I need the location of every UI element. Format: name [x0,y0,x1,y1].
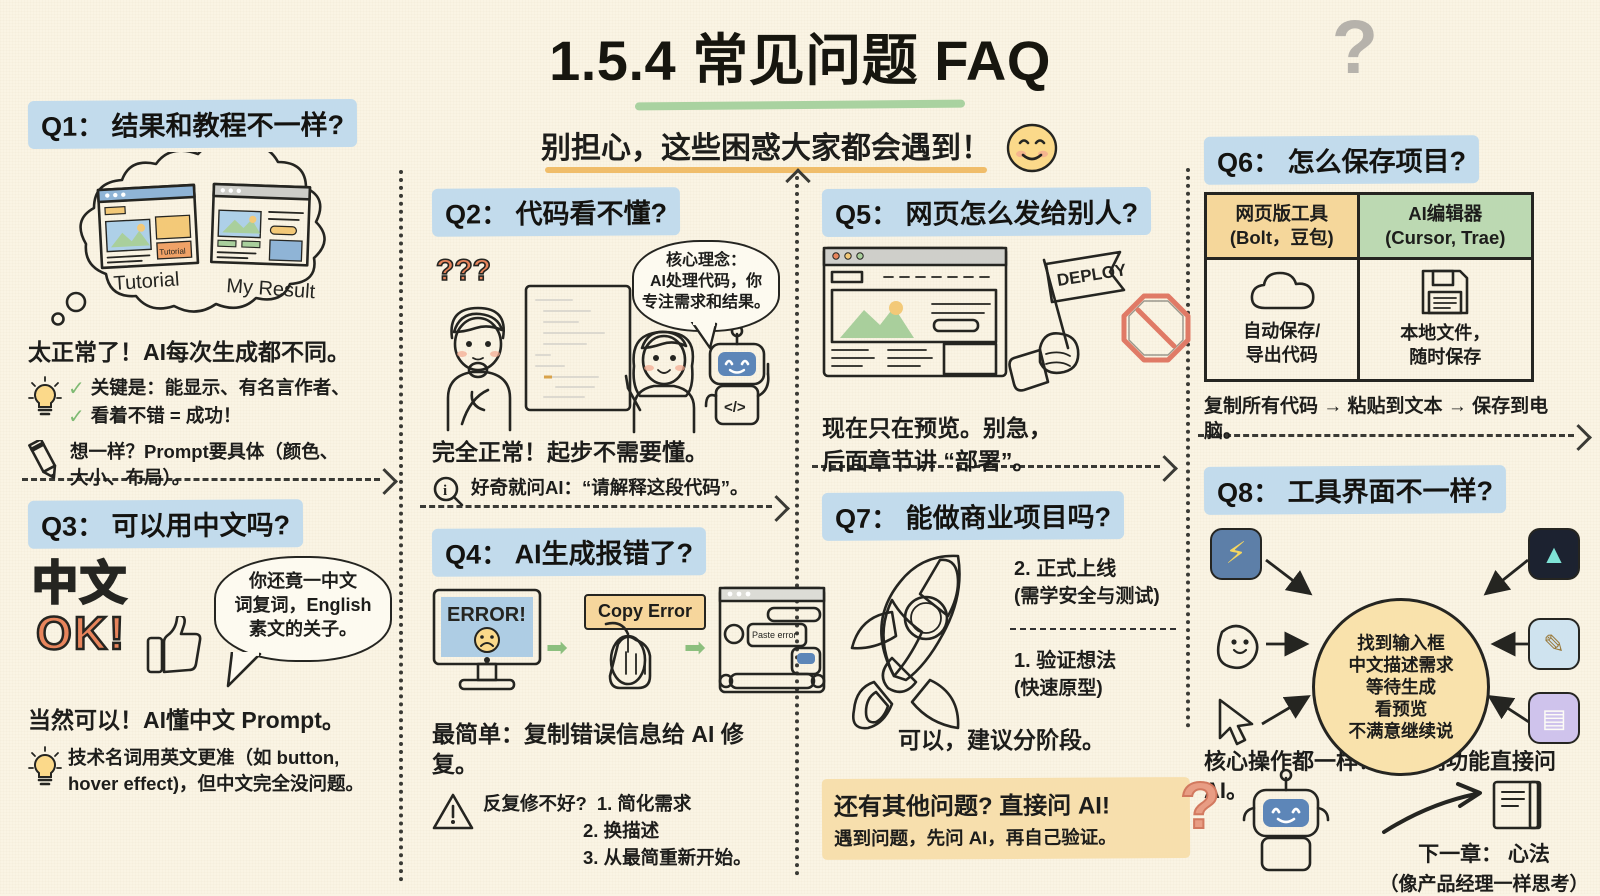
next-chapter-label: 下一章： 心法 （像产品经理一样思考） [1372,838,1596,896]
q8-circle-line-2: 中文描述需求 [1349,654,1454,676]
divider-col2-col3 [795,176,799,876]
q1-left-caption: Tutorial [113,268,180,295]
q6-header-left-line2: (Bolt，豆包) [1211,226,1353,250]
q3-bullet-group: 技术名词用英文更准（如 button, hover effect)，但中文完全没… [28,746,398,796]
cursor-glyph: ✎ [1543,631,1565,657]
q2-bubble-line-2: AI处理代码，你 [640,272,772,293]
q5-answer-line-1: 现在只在预览。别急， [822,414,1182,444]
panel-q4: Q4： AI生成报错了? ERROR! ➡ Copy Error [432,528,784,870]
next-chapter-line-1: 下一章： 心法 [1372,838,1596,868]
q1-bullet-1: 关键是：能显示、有名言作者、 [91,376,350,402]
q6-heading: Q6： 怎么保存项目? [1204,135,1479,185]
q3-badge-chinese: 中文 [32,562,128,606]
q3-bubble-line-1: 你还竟一中文 [226,570,380,594]
q2-illustration: ??? [432,240,782,436]
q3-bullet-2: hover effect)，但中文完全没问题。 [68,772,364,796]
q4-warn-item-3: 3. 从最简重新开始。 [583,846,752,870]
book-icon [1488,778,1546,834]
q2-bubble-line-1: 核心理念： [640,251,772,272]
q3-bullet-1: 技术名词用英文更准（如 button, [68,746,364,770]
pencil-icon [28,440,62,484]
cursor-pencil-icon[interactable]: ✎ [1528,618,1580,670]
q8-circle-line-1: 找到输入框 [1357,632,1445,654]
q8-core-loop-circle: 找到输入框 中文描述需求 等待生成 看预览 不满意继续说 [1312,598,1490,776]
svg-text:i: i [443,483,447,499]
q4-answer: 最简单：复制错误信息给 AI 修复。 [432,720,784,780]
person-thinking-icon [432,292,528,432]
title-underline [635,100,965,111]
floppy-disk-icon [1420,268,1470,316]
q7-illustration: 2. 正式上线 (需学安全与测试) 1. 验证想法 (快速原型) [822,544,1184,734]
q1-illustration: Tutorial [28,152,393,344]
q8-heading: Q8： 工具界面不一样? [1204,465,1506,515]
q3-bubble-line-3: 素文的关子。 [226,618,380,642]
q6-header-left-line1: 网页版工具 [1211,202,1353,226]
table-row-header: 网页版工具 (Bolt，豆包) AI编辑器 (Cursor, Trae) [1206,194,1533,259]
title-question-mark-icon: ? [1332,10,1378,86]
mouse-hand-icon [598,618,678,698]
panel-q5: Q5： 网页怎么发给别人? [822,188,1182,477]
chat-window-icon: Paste error [718,586,826,696]
arrow-icon: ➡ [684,632,706,663]
q3-illustration: 中文 OK! 你还竟一中文 词复词，English 素文的关子。 [28,554,398,704]
banner-question-mark-icon: ? [1180,772,1220,838]
q8-circle-line-3: 等待生成 [1366,676,1436,698]
q6-comparison-table: 网页版工具 (Bolt，豆包) AI编辑器 (Cursor, Trae) 自动保… [1204,192,1534,382]
q2-answer: 完全正常！起步不需要懂。 [432,438,782,468]
panel-q8: Q8： 工具界面不一样? 找到输入框 [1204,466,1586,805]
bubble-tail-icon [688,322,728,352]
divider-col1-col2 [399,170,403,882]
q4-heading: Q4： AI生成报错了? [432,527,706,577]
q1-bullet-group-1: ✓ 关键是：能显示、有名言作者、 ✓ 看着不错 = 成功！ [28,376,393,430]
q3-heading: Q3： 可以用中文吗? [28,499,303,549]
lightbulb-icon [28,376,62,422]
q7-stage1-title: 1. 验证想法 [1014,648,1116,674]
q1-right-caption: My Result [226,275,317,303]
q6-header-right-line2: (Cursor, Trae) [1364,226,1527,250]
thumbs-up-icon [146,616,202,678]
robot-badge-text: </> [724,399,746,416]
error-monitor-icon: ERROR! [432,588,542,696]
warning-triangle-icon [432,792,474,832]
q6-header-right-line1: AI编辑器 [1364,202,1527,226]
q6-cell-right-line2: 随时保存 [1364,346,1527,369]
q4-warn-title: 反复修不好? [483,792,587,816]
q8-circle-line-5: 不满意继续说 [1349,720,1454,742]
q2-bullet-group: i 好奇就问AI：“请解释这段代码”。 [432,476,782,508]
arrow-icon: ➡ [546,632,568,663]
deploy-flag-icon: DEPLOY [1006,244,1128,392]
q4-warn-item-1: 1. 简化需求 [597,792,692,816]
chat-window-icon[interactable]: ▤ [1528,692,1580,744]
faq-infographic: 1.5.4 常见问题 FAQ ? 别担心，这些困惑大家都会遇到！ Q1： 结果和… [0,0,1600,894]
paste-error-text: Paste error [752,630,797,640]
bolt-lightning-icon[interactable]: ⚡ [1210,528,1262,580]
browser-preview-icon [822,246,1008,378]
cloud-icon [1249,270,1315,314]
q4-warning-group: 反复修不好? 1. 简化需求 2. 换描述 3. 从最简重新开始。 [432,792,784,870]
panel-q1: Q1： 结果和教程不一样? Tutorial [28,100,393,490]
no-entry-icon [1120,292,1192,364]
panel-q7: Q7： 能做商业项目吗? 2. 正式上线 (需学安全与测试) 1. 验 [822,492,1184,756]
q7-stage2-sub: (需学安全与测试) [1014,585,1160,610]
q2-heading: Q2： 代码看不懂? [432,187,680,237]
q1-bullet-group-2: 想一样？Prompt要具体（颜色、 大小、布局）。 [28,440,393,490]
error-text: ERROR! [447,604,526,626]
panel-q6: Q6： 怎么保存项目? 网页版工具 (Bolt，豆包) AI编辑器 (Curso… [1204,136,1584,445]
trae-star-icon[interactable]: ▲ [1528,528,1580,580]
chat-glyph: ▤ [1542,705,1567,731]
banner-line-1: 还有其他问题? 直接问 AI! [834,785,1178,822]
q5-heading: Q5： 网页怎么发给别人? [822,187,1151,237]
q7-heading: Q7： 能做商业项目吗? [822,491,1124,541]
bottom-banner: 还有其他问题? 直接问 AI! 遇到问题，先问 AI，再自己验证。 [822,777,1190,860]
thought-cloud-icon: Tutorial [28,152,388,344]
q7-stage-1: 1. 验证想法 (快速原型) [1014,648,1116,702]
check-icon: ✓ [68,376,85,402]
q7-stage2-title: 2. 正式上线 [1014,556,1160,582]
page-title: 1.5.4 常见问题 FAQ [549,16,1051,97]
mouse-cursor-icon[interactable] [1214,696,1260,748]
divider-col3-col4 [1186,168,1190,728]
q7-stage-separator [1010,628,1176,630]
smiley-face-icon [1005,121,1059,175]
svg-text:Tutorial: Tutorial [159,246,186,256]
lightbulb-icon [28,746,62,792]
q6-footer: 复制所有代码 → 粘贴到文本 → 保存到电脑。 [1204,395,1584,444]
q6-cell-right: 本地文件， 随时保存 [1358,259,1532,381]
q2-bullet-1: 好奇就问AI：“请解释这段代码”。 [471,476,749,500]
q1-bullet-4: 大小、布局）。 [70,466,338,490]
q3-bubble-line-2: 词复词，English [226,594,380,618]
deploy-flag-label: DEPLOY [1056,260,1128,290]
subtitle: 别担心，这些困惑大家都会遇到！ [541,123,991,173]
q1-bullet-3: 想一样？Prompt要具体（颜色、 [70,440,338,464]
next-chapter-line-2: （像产品经理一样思考） [1372,869,1596,896]
q2-speech-bubble: 核心理念： AI处理代码，你 专注需求和结果。 [632,240,780,332]
q6-cell-left-line2: 导出代码 [1211,344,1353,367]
bubble-tail-icon [226,652,276,690]
q6-cell-left-line1: 自动保存/ [1211,320,1353,343]
q6-cell-left: 自动保存/ 导出代码 [1206,259,1359,381]
doubao-bean-icon[interactable] [1212,620,1264,670]
bolt-glyph: ⚡ [1225,539,1246,569]
table-row: 自动保存/ 导出代码 本地文件， 随时保存 [1206,259,1533,381]
q5-illustration: DEPLOY [822,244,1182,404]
q3-answer: 当然可以！AI懂中文 Prompt。 [28,706,398,736]
trae-glyph: ▲ [1541,541,1567,567]
q6-cell-right-line1: 本地文件， [1364,322,1527,345]
q5-answer-line-2: 后面章节讲 “部署”。 [822,447,1182,477]
blackboard-code-icon [524,284,632,412]
banner-line-2: 遇到问题，先问 AI，再自己验证。 [834,823,1178,851]
q8-illustration: 找到输入框 中文描述需求 等待生成 看预览 不满意继续说 ⚡ ▲ ✎ [1204,520,1586,750]
question-marks-icon: ??? [436,254,491,288]
q4-illustration: ERROR! ➡ Copy Error ➡ [432,584,784,704]
q7-stage1-sub: (快速原型) [1014,677,1116,702]
q2-bubble-line-3: 专注需求和结果。 [640,293,772,314]
q3-speech-bubble: 你还竟一中文 词复词，English 素文的关子。 [214,556,392,662]
q3-badge-ok: OK! [36,612,126,656]
panel-q2: Q2： 代码看不懂? ??? [432,188,782,508]
q6-header-right: AI编辑器 (Cursor, Trae) [1358,194,1532,259]
q4-warn-item-2: 2. 换描述 [583,819,752,843]
q1-heading: Q1： 结果和教程不一样? [28,99,357,149]
q8-circle-line-4: 看预览 [1375,698,1428,720]
magnifier-icon: i [432,476,464,508]
rocket-icon [822,550,1022,736]
q7-stage-2: 2. 正式上线 (需学安全与测试) [1014,556,1160,610]
check-icon: ✓ [68,404,85,430]
panel-q3: Q3： 可以用中文吗? 中文 OK! 你还竟一中文 词复词，English 素文… [28,500,398,796]
next-chapter-arrow-icon [1380,780,1490,840]
q1-bullet-2: 看着不错 = 成功！ [91,404,242,430]
q6-header-left: 网页版工具 (Bolt，豆包) [1206,194,1359,259]
robot-icon [1240,768,1332,876]
